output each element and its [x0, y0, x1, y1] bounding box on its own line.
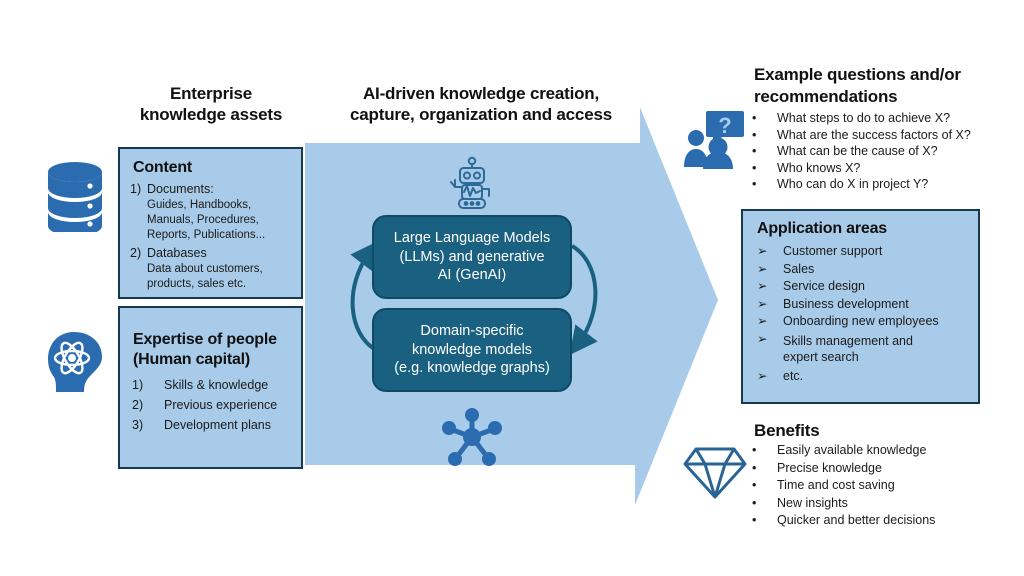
expertise-title-line2: (Human capital) — [133, 350, 298, 370]
application-bullet-4: ➢ — [757, 315, 783, 328]
center-column-header: AI-driven knowledge creation, capture, o… — [322, 84, 640, 125]
questions-title-line1: Example questions and/or — [754, 64, 1022, 86]
domain-model-box: Domain-specific knowledge models (e.g. k… — [372, 308, 572, 392]
center-header-line1: AI-driven knowledge creation, — [322, 84, 640, 105]
expertise-item-2-label: Development plans — [164, 418, 271, 432]
robot-icon — [443, 155, 501, 213]
content-item-1-marker: 2) — [130, 246, 147, 260]
application-label-4: Onboarding new employees — [783, 315, 979, 328]
question-bullet-1: • — [752, 129, 777, 142]
llm-line2: AI (GenAI) — [394, 266, 550, 285]
application-item-5: ➢ Skills management and expert search — [757, 333, 979, 366]
benefit-bullet-0: • — [752, 444, 777, 457]
application-label-5-line2: expert search — [783, 349, 979, 365]
domain-model-box-text: Domain-specific knowledge models (e.g. k… — [394, 322, 550, 378]
question-label-4: Who can do X in project Y? — [777, 178, 1024, 191]
head-atom-icon — [44, 330, 108, 394]
example-questions-title: Example questions and/or recommendations — [754, 64, 1022, 108]
content-item-0-detail-line0: Guides, Handbooks, — [147, 198, 307, 213]
llm-model-box-text: Large Language Models (LLMs) and generat… — [394, 229, 550, 285]
application-label-3: Business development — [783, 298, 979, 311]
content-item-0-detail-line2: Reports, Publications... — [147, 228, 307, 243]
expertise-item-0: 1) Skills & knowledge — [132, 378, 304, 392]
application-item-3: ➢ Business development — [757, 298, 979, 311]
application-areas-title: Application areas — [757, 220, 887, 238]
benefit-item-2: • Time and cost saving — [752, 479, 1024, 492]
expertise-box-title: Expertise of people (Human capital) — [133, 330, 298, 371]
expertise-item-1-marker: 2) — [132, 398, 164, 412]
expertise-item-0-marker: 1) — [132, 378, 164, 392]
question-label-1: What are the success factors of X? — [777, 129, 1024, 142]
content-item-0-label: Documents: — [147, 182, 214, 196]
content-item-1-detail: Data about customers, products, sales et… — [147, 262, 307, 292]
benefit-label-2: Time and cost saving — [777, 479, 1024, 492]
llm-line1: (LLMs) and generative — [394, 248, 550, 267]
content-item-0: 1) Documents: — [130, 182, 302, 196]
domain-line0: Domain-specific — [394, 322, 550, 341]
content-item-0-detail-line1: Manuals, Procedures, — [147, 213, 307, 228]
question-item-3: • Who knows X? — [752, 162, 1024, 175]
content-item-1-detail-line0: Data about customers, — [147, 262, 307, 277]
benefit-bullet-3: • — [752, 497, 777, 510]
benefit-label-0: Easily available knowledge — [777, 444, 1024, 457]
application-label-5: Skills management and expert search — [783, 333, 979, 366]
content-item-0-detail: Guides, Handbooks, Manuals, Procedures, … — [147, 198, 307, 244]
expertise-item-1-label: Previous experience — [164, 398, 277, 412]
question-item-4: • Who can do X in project Y? — [752, 178, 1024, 191]
application-label-0: Customer support — [783, 245, 979, 258]
svg-text:?: ? — [718, 113, 731, 138]
application-areas-box: Application areas ➢ Customer support ➢ S… — [741, 209, 980, 404]
expertise-item-1: 2) Previous experience — [132, 398, 304, 412]
content-box: Content 1) Documents: Guides, Handbooks,… — [118, 147, 303, 299]
benefit-label-3: New insights — [777, 497, 1024, 510]
knowledge-graph-icon — [440, 406, 504, 468]
benefit-bullet-1: • — [752, 462, 777, 475]
llm-line0: Large Language Models — [394, 229, 550, 248]
left-header-line1: Enterprise — [104, 84, 318, 105]
llm-model-box: Large Language Models (LLMs) and generat… — [372, 215, 572, 299]
diamond-icon — [683, 443, 747, 501]
question-bullet-2: • — [752, 145, 777, 158]
benefit-bullet-2: • — [752, 479, 777, 492]
domain-line1: knowledge models — [394, 341, 550, 360]
application-item-6: ➢ etc. — [757, 370, 979, 383]
benefit-label-4: Quicker and better decisions — [777, 514, 1024, 527]
application-item-0: ➢ Customer support — [757, 245, 979, 258]
application-areas-list: ➢ Customer support ➢ Sales ➢ Service des… — [757, 245, 979, 383]
example-questions-list: • What steps to do to achieve X? • What … — [752, 112, 1024, 191]
benefits-list: • Easily available knowledge • Precise k… — [752, 444, 1024, 527]
expertise-item-2-marker: 3) — [132, 418, 164, 432]
question-label-2: What can be the cause of X? — [777, 145, 1024, 158]
benefit-item-3: • New insights — [752, 497, 1024, 510]
application-bullet-5: ➢ — [757, 333, 783, 346]
content-item-0-marker: 1) — [130, 182, 147, 196]
people-question-icon: ? — [684, 107, 746, 169]
benefit-item-4: • Quicker and better decisions — [752, 514, 1024, 527]
benefit-bullet-4: • — [752, 514, 777, 527]
benefit-item-0: • Easily available knowledge — [752, 444, 1024, 457]
benefit-item-1: • Precise knowledge — [752, 462, 1024, 475]
application-label-1: Sales — [783, 263, 979, 276]
content-item-1: 2) Databases — [130, 246, 302, 260]
application-item-2: ➢ Service design — [757, 280, 979, 293]
question-label-3: Who knows X? — [777, 162, 1024, 175]
expertise-box: Expertise of people (Human capital) 1) S… — [118, 306, 303, 469]
application-bullet-0: ➢ — [757, 245, 783, 258]
database-icon — [44, 160, 106, 232]
application-label-6: etc. — [783, 370, 979, 383]
center-header-line2: capture, organization and access — [322, 105, 640, 126]
content-item-1-label: Databases — [147, 246, 207, 260]
left-column-header: Enterprise knowledge assets — [104, 84, 318, 125]
question-bullet-3: • — [752, 162, 777, 175]
content-item-1-detail-line1: products, sales etc. — [147, 277, 307, 292]
expertise-title-line1: Expertise of people — [133, 330, 298, 350]
application-bullet-3: ➢ — [757, 298, 783, 311]
benefits-title: Benefits — [754, 421, 819, 441]
content-box-title: Content — [133, 159, 192, 177]
application-label-2: Service design — [783, 280, 979, 293]
benefit-label-1: Precise knowledge — [777, 462, 1024, 475]
question-item-0: • What steps to do to achieve X? — [752, 112, 1024, 125]
domain-line2: (e.g. knowledge graphs) — [394, 359, 550, 378]
question-item-2: • What can be the cause of X? — [752, 145, 1024, 158]
question-label-0: What steps to do to achieve X? — [777, 112, 1024, 125]
question-bullet-4: • — [752, 178, 777, 191]
application-label-5-line1: Skills management and — [783, 333, 979, 349]
application-bullet-2: ➢ — [757, 280, 783, 293]
expertise-item-2: 3) Development plans — [132, 418, 304, 432]
question-item-1: • What are the success factors of X? — [752, 129, 1024, 142]
application-bullet-6: ➢ — [757, 370, 783, 383]
expertise-item-0-label: Skills & knowledge — [164, 378, 268, 392]
application-bullet-1: ➢ — [757, 263, 783, 276]
question-bullet-0: • — [752, 112, 777, 125]
application-item-4: ➢ Onboarding new employees — [757, 315, 979, 328]
left-header-line2: knowledge assets — [104, 105, 318, 126]
application-item-1: ➢ Sales — [757, 263, 979, 276]
questions-title-line2: recommendations — [754, 86, 1022, 108]
diagram-canvas: Enterprise knowledge assets AI-driven kn… — [0, 0, 1024, 576]
